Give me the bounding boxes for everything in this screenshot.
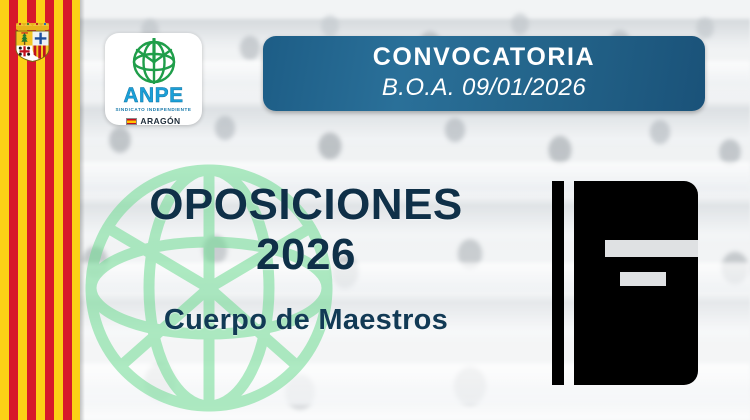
aragon-flag-strip bbox=[0, 0, 80, 420]
anpe-globe-icon bbox=[128, 38, 180, 84]
anpe-tagline: SINDICATO INDEPENDIENTE bbox=[115, 107, 191, 112]
headline-block: OPOSICIONES 2026 Cuerpo de Maestros bbox=[86, 183, 526, 337]
anpe-logo[interactable]: ANPE SINDICATO INDEPENDIENTE ARAGÓN bbox=[105, 33, 202, 125]
convocatoria-banner: CONVOCATORIA B.O.A. 09/01/2026 bbox=[263, 36, 705, 111]
aragon-coat-of-arms-icon bbox=[11, 22, 54, 62]
flag-edge-shadow bbox=[80, 0, 85, 420]
spain-flag-icon bbox=[126, 118, 137, 125]
headline-line-2: 2026 bbox=[86, 228, 526, 282]
book-icon bbox=[552, 181, 698, 385]
poster-canvas: OPOSICIONES 2026 Cuerpo de Maestros bbox=[0, 0, 750, 420]
banner-subtitle: B.O.A. 09/01/2026 bbox=[382, 73, 586, 103]
anpe-region-row: ARAGÓN bbox=[126, 116, 180, 126]
anpe-region-label: ARAGÓN bbox=[140, 116, 180, 126]
headline-line-3: Cuerpo de Maestros bbox=[86, 304, 526, 337]
headline-line-1: OPOSICIONES bbox=[86, 183, 526, 228]
banner-title: CONVOCATORIA bbox=[373, 44, 595, 70]
anpe-brand-text: ANPE bbox=[123, 85, 183, 106]
